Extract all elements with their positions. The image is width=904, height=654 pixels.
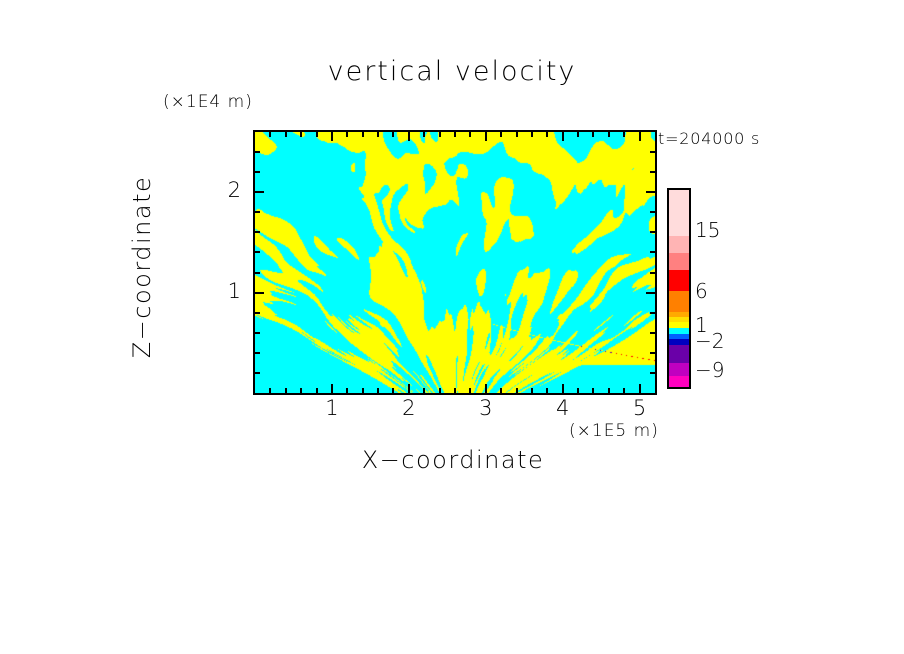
x-tick [546, 132, 548, 137]
x-tick [423, 132, 425, 137]
contour-field [255, 132, 655, 393]
x-tick [516, 388, 518, 393]
x-tick [562, 132, 564, 141]
colorbar-band [669, 345, 689, 364]
x-tick [531, 388, 533, 393]
y-tick-label: 1 [211, 279, 241, 303]
x-tick [454, 132, 456, 137]
x-tick [362, 388, 364, 393]
y-tick [255, 251, 260, 253]
x-tick [485, 384, 487, 393]
x-tick [408, 384, 410, 393]
y-tick [650, 151, 655, 153]
x-tick [346, 132, 348, 137]
y-tick [255, 151, 260, 153]
x-tick [608, 132, 610, 137]
y-tick [646, 292, 655, 294]
x-tick-label: 3 [471, 396, 501, 420]
x-tick [608, 388, 610, 393]
x-tick [500, 388, 502, 393]
y-tick [650, 352, 655, 354]
colorbar-tick-label: −2 [695, 329, 724, 353]
y-tick [255, 292, 264, 294]
x-tick [439, 388, 441, 393]
colorbar-tick-label: −9 [695, 358, 724, 382]
x-tick [285, 132, 287, 137]
y-tick [255, 191, 264, 193]
y-axis-label: Z−coordinate [128, 117, 156, 417]
x-tick [316, 388, 318, 393]
colorbar-band [669, 376, 689, 388]
colorbar-band [669, 291, 689, 313]
y-tick [255, 332, 260, 334]
y-tick [255, 352, 260, 354]
y-tick [650, 231, 655, 233]
x-tick [346, 388, 348, 393]
x-tick [316, 132, 318, 137]
x-axis-unit-label: (×1E5 m) [569, 421, 659, 441]
colorbar [667, 188, 691, 389]
y-tick [646, 191, 655, 193]
x-tick-label: 2 [394, 396, 424, 420]
y-axis-unit-label: (×1E4 m) [163, 92, 253, 112]
colorbar-band [669, 236, 689, 254]
y-tick [255, 171, 260, 173]
colorbar-band [669, 270, 689, 292]
x-tick [546, 388, 548, 393]
x-tick-label: 1 [317, 396, 347, 420]
y-tick [255, 372, 260, 374]
x-tick [300, 388, 302, 393]
x-tick [392, 388, 394, 393]
x-tick [531, 132, 533, 137]
x-tick [469, 388, 471, 393]
x-tick [577, 132, 579, 137]
x-tick [592, 388, 594, 393]
x-tick-label: 5 [625, 396, 655, 420]
x-tick [639, 384, 641, 393]
page-title: vertical velocity [0, 56, 904, 87]
y-tick [650, 211, 655, 213]
x-tick [439, 132, 441, 137]
y-tick [255, 231, 260, 233]
x-tick [331, 384, 333, 393]
colorbar-band [669, 253, 689, 271]
timestamp-annotation: t=204000 s [658, 129, 760, 148]
x-tick [392, 132, 394, 137]
figure-canvas: vertical velocity (×1E4 m) t=204000 s 12… [0, 0, 904, 654]
x-tick [469, 132, 471, 137]
y-tick-label: 2 [211, 178, 241, 202]
x-tick [269, 132, 271, 137]
x-tick [485, 132, 487, 141]
x-tick [639, 132, 641, 141]
x-tick [577, 388, 579, 393]
x-tick [562, 384, 564, 393]
x-axis-label: X−coordinate [253, 446, 653, 474]
y-tick [650, 332, 655, 334]
colorbar-tick-label: 6 [695, 279, 708, 303]
x-tick [377, 132, 379, 137]
x-tick [408, 132, 410, 141]
x-tick [269, 388, 271, 393]
x-tick [285, 388, 287, 393]
x-tick [377, 388, 379, 393]
y-tick [255, 312, 260, 314]
colorbar-tick-label: 15 [695, 218, 720, 242]
x-tick [623, 132, 625, 137]
x-tick [454, 388, 456, 393]
x-tick [423, 388, 425, 393]
y-tick [650, 251, 655, 253]
y-tick [255, 211, 260, 213]
x-tick [331, 132, 333, 141]
y-tick [650, 312, 655, 314]
x-tick [500, 132, 502, 137]
colorbar-band [669, 190, 689, 237]
y-tick [650, 272, 655, 274]
plot-area [253, 130, 657, 395]
y-tick [255, 272, 260, 274]
x-tick [592, 132, 594, 137]
x-tick-label: 4 [548, 396, 578, 420]
x-tick [362, 132, 364, 137]
y-tick [650, 171, 655, 173]
colorbar-band [669, 363, 689, 377]
x-tick [300, 132, 302, 137]
y-tick [650, 372, 655, 374]
x-tick [623, 388, 625, 393]
x-tick [516, 132, 518, 137]
